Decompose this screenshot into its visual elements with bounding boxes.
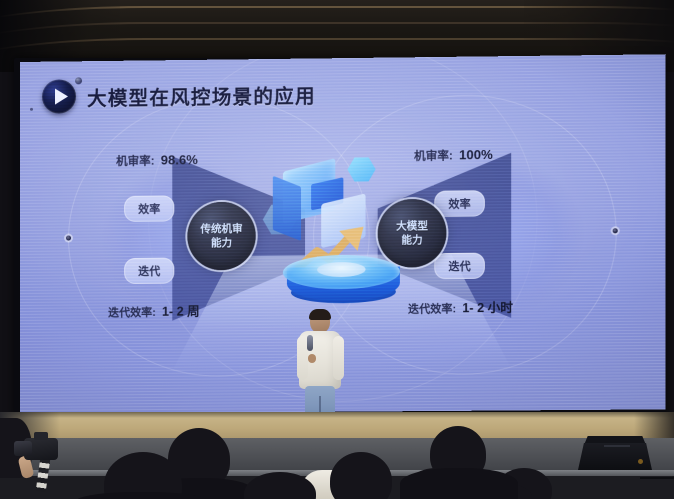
monitor-connector <box>638 459 643 464</box>
stage-monitor-speaker <box>578 436 652 470</box>
capability-left-line1: 传统机审 <box>200 222 242 237</box>
accent-dot-small-icon <box>30 108 33 111</box>
play-button-icon <box>42 79 76 113</box>
play-triangle-icon <box>55 88 68 104</box>
microphone-icon <box>307 335 313 351</box>
monitor-grill <box>604 445 630 447</box>
metric-left-value: 98.6% <box>161 152 198 167</box>
metric-left-label: 机审率: <box>116 156 154 168</box>
orbit-dot-right <box>613 228 618 233</box>
photographer-camera <box>14 430 66 464</box>
camera-viewfinder <box>34 432 48 440</box>
metric-right-value: 100% <box>459 147 493 162</box>
presenter-hair <box>309 309 331 320</box>
slide-title-row: 大模型在风控场景的应用 <box>42 77 316 114</box>
presenter-hand <box>308 354 316 363</box>
metric-left: 机审率: 98.6% <box>116 152 198 169</box>
hexagon-cyan-icon <box>347 156 375 182</box>
center-illustration <box>259 150 430 302</box>
stage-front-shadow <box>0 412 674 418</box>
camera-lens <box>14 441 32 456</box>
footer-right-value: 1- 2 小时 <box>462 301 513 316</box>
orbit-dot-left <box>66 236 71 241</box>
presenter-arm-right <box>333 336 344 380</box>
page-title: 大模型在风控场景的应用 <box>87 79 316 111</box>
pill-right-iteration: 迭代 <box>434 253 485 280</box>
monitor-cable <box>640 465 674 479</box>
footer-right: 迭代效率: 1- 2 小时 <box>408 297 513 317</box>
presenter <box>296 310 344 418</box>
footer-left-label: 迭代效率: <box>108 307 156 319</box>
audience-shoulders <box>400 468 518 499</box>
footer-left-value: 1- 2 周 <box>162 304 200 318</box>
footer-left: 迭代效率: 1- 2 周 <box>108 300 200 320</box>
pill-right-efficiency: 效率 <box>434 190 485 217</box>
capability-circle-traditional: 传统机审 能力 <box>187 202 255 271</box>
accent-dot-icon <box>75 77 82 84</box>
photo-scene: 大模型在风控场景的应用 机审率: 98.6% 机审率: 100% 效率 迭代 效… <box>0 0 674 499</box>
pill-left-efficiency: 效率 <box>124 195 174 222</box>
pill-left-iteration: 迭代 <box>124 258 174 285</box>
footer-right-label: 迭代效率: <box>408 303 456 315</box>
capability-left-line2: 能力 <box>211 236 232 250</box>
